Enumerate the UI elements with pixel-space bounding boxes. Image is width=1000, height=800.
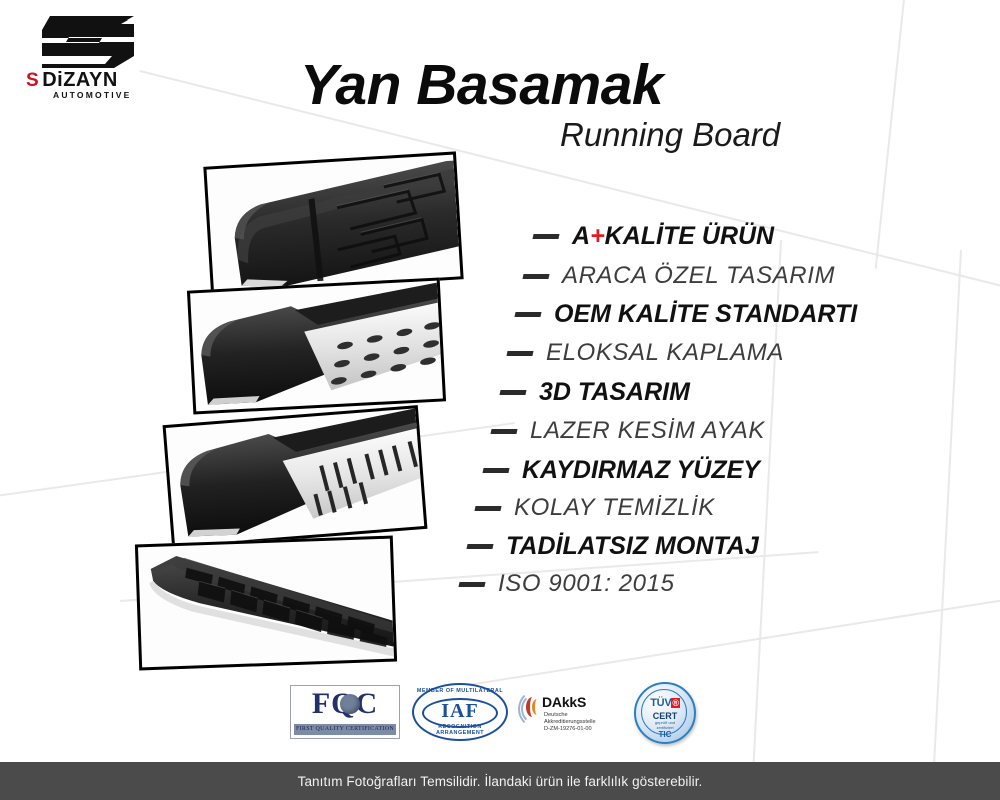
feature-label-5: 3D TASARIM bbox=[539, 378, 690, 407]
feature-label-10: ISO 9001: 2015 bbox=[498, 570, 675, 598]
fqc-certification-badge: FQC FIRST QUALITY CERTIFICATION bbox=[290, 685, 400, 739]
bullet-dash-icon bbox=[532, 234, 559, 239]
bullet-dash-icon bbox=[522, 274, 549, 279]
feature-item-2: ARACA ÖZEL TASARIM bbox=[523, 262, 835, 290]
iaf-top-text: MEMBER OF MULTILATERAL bbox=[414, 688, 506, 694]
tuv-small-text: geprüft und zertifiziert bbox=[636, 720, 694, 730]
page-subtitle: Running Board bbox=[560, 116, 780, 154]
bullet-dash-icon bbox=[474, 506, 501, 511]
bullet-dash-icon bbox=[482, 468, 509, 473]
iaf-mark: IAF bbox=[414, 700, 506, 723]
bullet-dash-icon bbox=[506, 351, 533, 356]
brand-tagline: AUTOMOTIVE bbox=[53, 90, 132, 100]
tuv-registered-icon: ® bbox=[671, 698, 679, 708]
brand-name-prefix: S bbox=[26, 70, 42, 91]
feature-label-9: TADİLATSIZ MONTAJ bbox=[506, 532, 759, 561]
product-photo-4 bbox=[135, 536, 397, 671]
globe-icon bbox=[340, 694, 360, 714]
feature-label-3: OEM KALİTE STANDARTI bbox=[554, 300, 857, 329]
feature-item-5: 3D TASARIM bbox=[500, 378, 690, 407]
plus-accent: + bbox=[590, 222, 605, 250]
bullet-dash-icon bbox=[466, 544, 493, 549]
feature-item-1: A+KALİTE ÜRÜN bbox=[533, 222, 774, 251]
bg-diagonal-line bbox=[933, 250, 962, 769]
bullet-dash-icon bbox=[514, 312, 541, 317]
tuv-certification-badge: TÜV® CERT geprüft und zertifiziert TIC bbox=[634, 682, 696, 744]
brand-wordmark: SDiZAYN bbox=[26, 69, 118, 92]
bullet-dash-icon bbox=[458, 582, 485, 587]
feature-item-3: OEM KALİTE STANDARTI bbox=[515, 300, 857, 329]
dakks-certification-badge: DAkkS Deutsche Akkreditierungsstelle D-Z… bbox=[520, 688, 624, 736]
feature-item-8: KOLAY TEMİZLİK bbox=[475, 494, 715, 522]
bullet-dash-icon bbox=[490, 429, 517, 434]
bg-diagonal-line bbox=[430, 593, 1000, 691]
poster-canvas: SDiZAYN AUTOMOTIVE Yan Basamak Running B… bbox=[0, 0, 1000, 800]
page-title: Yan Basamak bbox=[300, 52, 663, 118]
fqc-caption-band: FIRST QUALITY CERTIFICATION bbox=[294, 724, 396, 735]
feature-list: A+KALİTE ÜRÜN ARACA ÖZEL TASARIM OEM KAL… bbox=[455, 222, 925, 592]
brand-name: DiZAYN bbox=[42, 69, 118, 91]
footer-disclaimer-bar: Tanıtım Fotoğrafları Temsilidir. İlandak… bbox=[0, 762, 1000, 800]
iaf-certification-badge: MEMBER OF MULTILATERAL IAF RECOGNITION A… bbox=[412, 683, 508, 741]
fqc-caption: FIRST QUALITY CERTIFICATION bbox=[294, 724, 396, 735]
dakks-line-1: Deutsche bbox=[544, 712, 596, 719]
tuv-mark: TÜV® bbox=[636, 697, 694, 709]
product-photo-3 bbox=[163, 405, 428, 549]
dakks-description: Deutsche Akkreditierungsstelle D-ZM-1927… bbox=[544, 712, 596, 733]
feature-item-7: KAYDIRMAZ YÜZEY bbox=[483, 456, 760, 485]
feature-label-8: KOLAY TEMİZLİK bbox=[514, 494, 715, 522]
dakks-line-3: D-ZM-19276-01-00 bbox=[544, 726, 596, 733]
feature-item-9: TADİLATSIZ MONTAJ bbox=[467, 532, 759, 561]
certification-badges: FQC FIRST QUALITY CERTIFICATION MEMBER O… bbox=[290, 680, 720, 750]
iaf-bottom-text: RECOGNITION ARRANGEMENT bbox=[414, 724, 506, 736]
dakks-mark: DAkkS bbox=[542, 694, 586, 710]
feature-label-6: LAZER KESİM AYAK bbox=[530, 417, 765, 445]
footer-disclaimer-text: Tanıtım Fotoğrafları Temsilidir. İlandak… bbox=[298, 774, 703, 789]
feature-item-4: ELOKSAL KAPLAMA bbox=[507, 339, 784, 367]
feature-label-7: KAYDIRMAZ YÜZEY bbox=[522, 456, 760, 485]
bullet-dash-icon bbox=[499, 390, 526, 395]
tuv-tic-label: TIC bbox=[636, 730, 694, 739]
s-dizayn-logo-icon bbox=[42, 16, 142, 73]
feature-label-4: ELOKSAL KAPLAMA bbox=[546, 339, 784, 367]
feature-label-2: ARACA ÖZEL TASARIM bbox=[562, 262, 835, 290]
dakks-orange-arc-icon bbox=[532, 699, 542, 715]
brand-logo: SDiZAYN AUTOMOTIVE bbox=[22, 16, 172, 96]
product-photo-2 bbox=[187, 277, 446, 414]
feature-item-10: ISO 9001: 2015 bbox=[459, 570, 675, 598]
product-photo-1 bbox=[203, 151, 463, 294]
feature-item-6: LAZER KESİM AYAK bbox=[491, 417, 765, 445]
dakks-line-2: Akkreditierungsstelle bbox=[544, 719, 596, 726]
feature-label-1: A+KALİTE ÜRÜN bbox=[572, 222, 774, 251]
